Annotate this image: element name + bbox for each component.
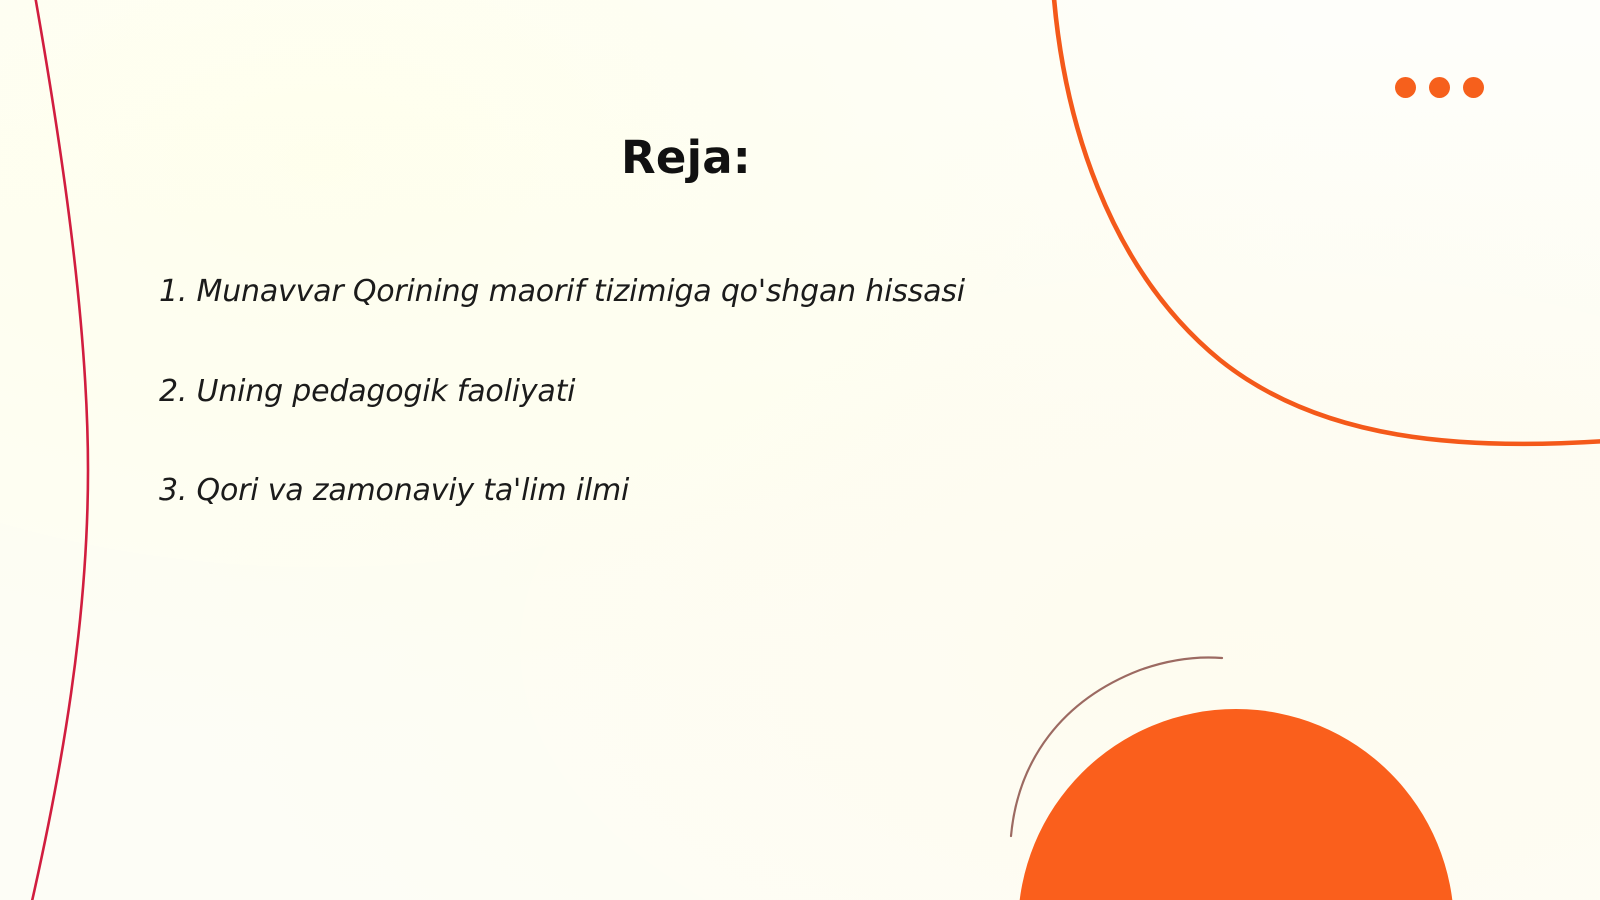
- page-title: Reja:: [0, 133, 1372, 183]
- slide-content: Reja: 1. Munavvar Qorining maorif tizimi…: [0, 0, 1600, 900]
- list-item: 3. Qori va zamonaviy ta'lim ilmi: [159, 474, 1159, 509]
- agenda-list: 1. Munavvar Qorining maorif tizimiga qo'…: [159, 275, 1159, 509]
- list-item: 1. Munavvar Qorining maorif tizimiga qo'…: [159, 275, 1159, 310]
- slide-canvas: Reja: 1. Munavvar Qorining maorif tizimi…: [0, 0, 1600, 900]
- list-item: 2. Uning pedagogik faoliyati: [159, 375, 1159, 410]
